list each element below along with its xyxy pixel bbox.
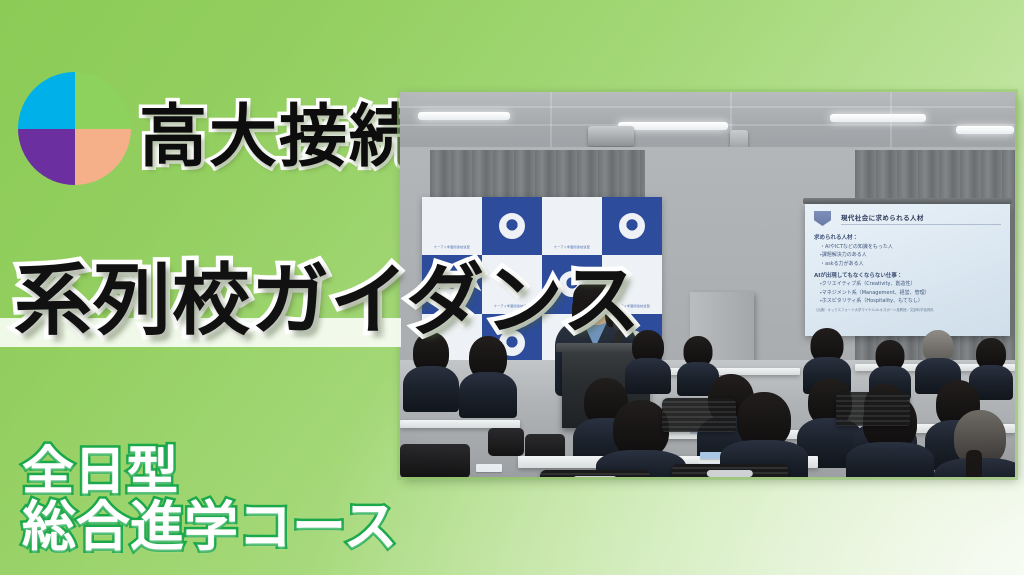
slide-school-crest-icon: [814, 211, 831, 226]
slide-bullet: ・ホスピタリティ系（Hospitality、もてなし）: [820, 297, 1001, 304]
ceiling-speaker-icon: [588, 126, 634, 146]
photo-chair: [672, 464, 788, 477]
four-quadrant-circle-logo: [18, 72, 131, 185]
slide-title: 現代社会に求められる人材: [841, 212, 1001, 225]
photo-handout: [476, 464, 502, 472]
logo-quadrant-top-left: [18, 72, 75, 129]
slide-source-note: （出典）オックスフォード大学マイケル・A・オズボーン准教授／文部科学省資料: [814, 307, 1001, 312]
page-title: 系列校ガイダンス: [14, 262, 641, 340]
photo-chair: [836, 392, 910, 426]
kicker-text: 高大接続: [139, 104, 419, 172]
slide-bullet: ・AIやICTなどの知識をもった人: [820, 243, 1001, 250]
slide-bullet: ・askる力がある人: [820, 260, 1001, 267]
slide-heading-2: AIが出現してもなくならない仕事：: [814, 271, 1001, 279]
photo-chair: [540, 470, 650, 477]
guidance-banner: 高大接続 ケーアイ学園関連校連盟 ケーアイ学園関連校連盟 ケーアイ学園関連校連: [0, 0, 1024, 575]
slide-heading-1: 求められる人材：: [814, 233, 1001, 241]
slide-bullet: ・クリエイティブ系（Creativity、創造性）: [820, 280, 1001, 287]
photo-table: [400, 420, 520, 428]
audience-ponytail: [966, 450, 982, 477]
slide-bullet: ・課題解決力のある人: [820, 251, 1001, 258]
photo-bag: [400, 444, 470, 477]
photo-ceiling: [400, 92, 1015, 152]
photo-bag: [488, 428, 524, 456]
logo-quadrant-bottom-left: [18, 129, 75, 186]
audience-person: [462, 336, 514, 414]
course-name-label: 総合進学コース: [22, 500, 397, 554]
photo-chair: [662, 398, 736, 432]
course-type-label: 全日型: [22, 446, 178, 498]
projection-screen: 現代社会に求められる人材 求められる人材： ・AIやICTなどの知識をもった人 …: [805, 204, 1010, 336]
logo-quadrant-top-right: [75, 72, 132, 129]
logo-quadrant-bottom-right: [75, 129, 132, 186]
slide-bullet: ・マネジメント系（Management、経営、管理）: [820, 289, 1001, 296]
